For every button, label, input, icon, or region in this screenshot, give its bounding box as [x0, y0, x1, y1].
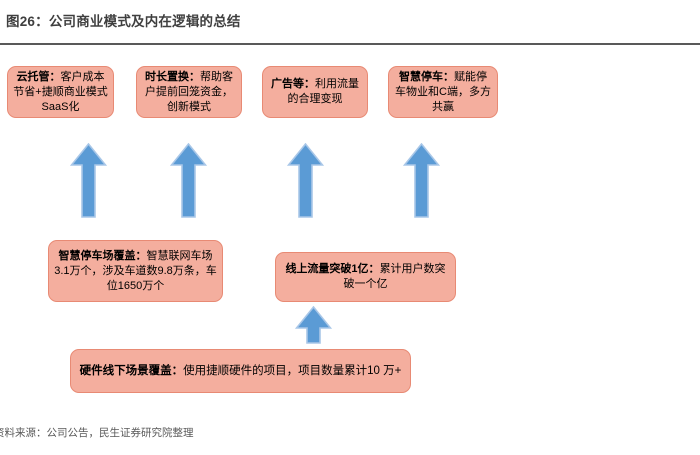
- box-parking-lot-coverage-content: 智慧停车场覆盖：智慧联网车场3.1万个，涉及车道数9.8万条，车位1650万个: [54, 249, 217, 294]
- box-parking-lot-coverage-lead: 智慧停车场覆盖：: [59, 250, 147, 262]
- box-advertising: 广告等：利用流量的合理变现: [262, 66, 368, 118]
- box-parking-lot-coverage: 智慧停车场覆盖：智慧联网车场3.1万个，涉及车道数9.8万条，车位1650万个: [48, 240, 223, 302]
- box-duration-swap-content: 时长置换：帮助客户提前回笼资金，创新模式: [142, 70, 236, 115]
- source-note: 资料来源：公司公告，民生证券研究院整理: [0, 425, 194, 440]
- box-advertising-lead: 广告等：: [271, 78, 315, 90]
- box-online-traffic: 线上流量突破1亿：累计用户数突破一个亿: [275, 252, 456, 302]
- box-duration-swap-lead: 时长置换：: [145, 71, 200, 83]
- up-arrow-icon-1: [70, 143, 107, 218]
- up-arrow-icon-2: [170, 143, 207, 218]
- box-smart-parking-lead: 智慧停车：: [399, 71, 454, 83]
- box-hardware-coverage-text: 使用捷顺硬件的项目，项目数量累计10 万+: [183, 365, 401, 377]
- box-hardware-coverage-content: 硬件线下场景覆盖：使用捷顺硬件的项目，项目数量累计10 万+: [80, 364, 402, 379]
- box-smart-parking-content: 智慧停车：赋能停车物业和C端，多方共赢: [394, 70, 492, 115]
- title-divider: [0, 43, 700, 45]
- box-hardware-coverage-lead: 硬件线下场景覆盖：: [80, 365, 184, 377]
- box-smart-parking: 智慧停车：赋能停车物业和C端，多方共赢: [388, 66, 498, 118]
- up-arrow-icon-3: [287, 143, 324, 218]
- box-online-traffic-content: 线上流量突破1亿：累计用户数突破一个亿: [281, 262, 450, 292]
- page-title: 图26：公司商业模式及内在逻辑的总结: [6, 10, 241, 30]
- box-cloud-hosting: 云托管：客户成本节省+捷顺商业模式SaaS化: [7, 66, 114, 118]
- box-advertising-content: 广告等：利用流量的合理变现: [268, 77, 362, 107]
- box-cloud-hosting-content: 云托管：客户成本节省+捷顺商业模式SaaS化: [13, 70, 108, 115]
- box-duration-swap: 时长置换：帮助客户提前回笼资金，创新模式: [136, 66, 242, 118]
- box-online-traffic-lead: 线上流量突破1亿：: [285, 263, 379, 275]
- box-hardware-coverage: 硬件线下场景覆盖：使用捷顺硬件的项目，项目数量累计10 万+: [70, 349, 411, 393]
- box-cloud-hosting-lead: 云托管：: [17, 71, 61, 83]
- up-arrow-icon-bottom: [295, 306, 332, 344]
- up-arrow-icon-4: [403, 143, 440, 218]
